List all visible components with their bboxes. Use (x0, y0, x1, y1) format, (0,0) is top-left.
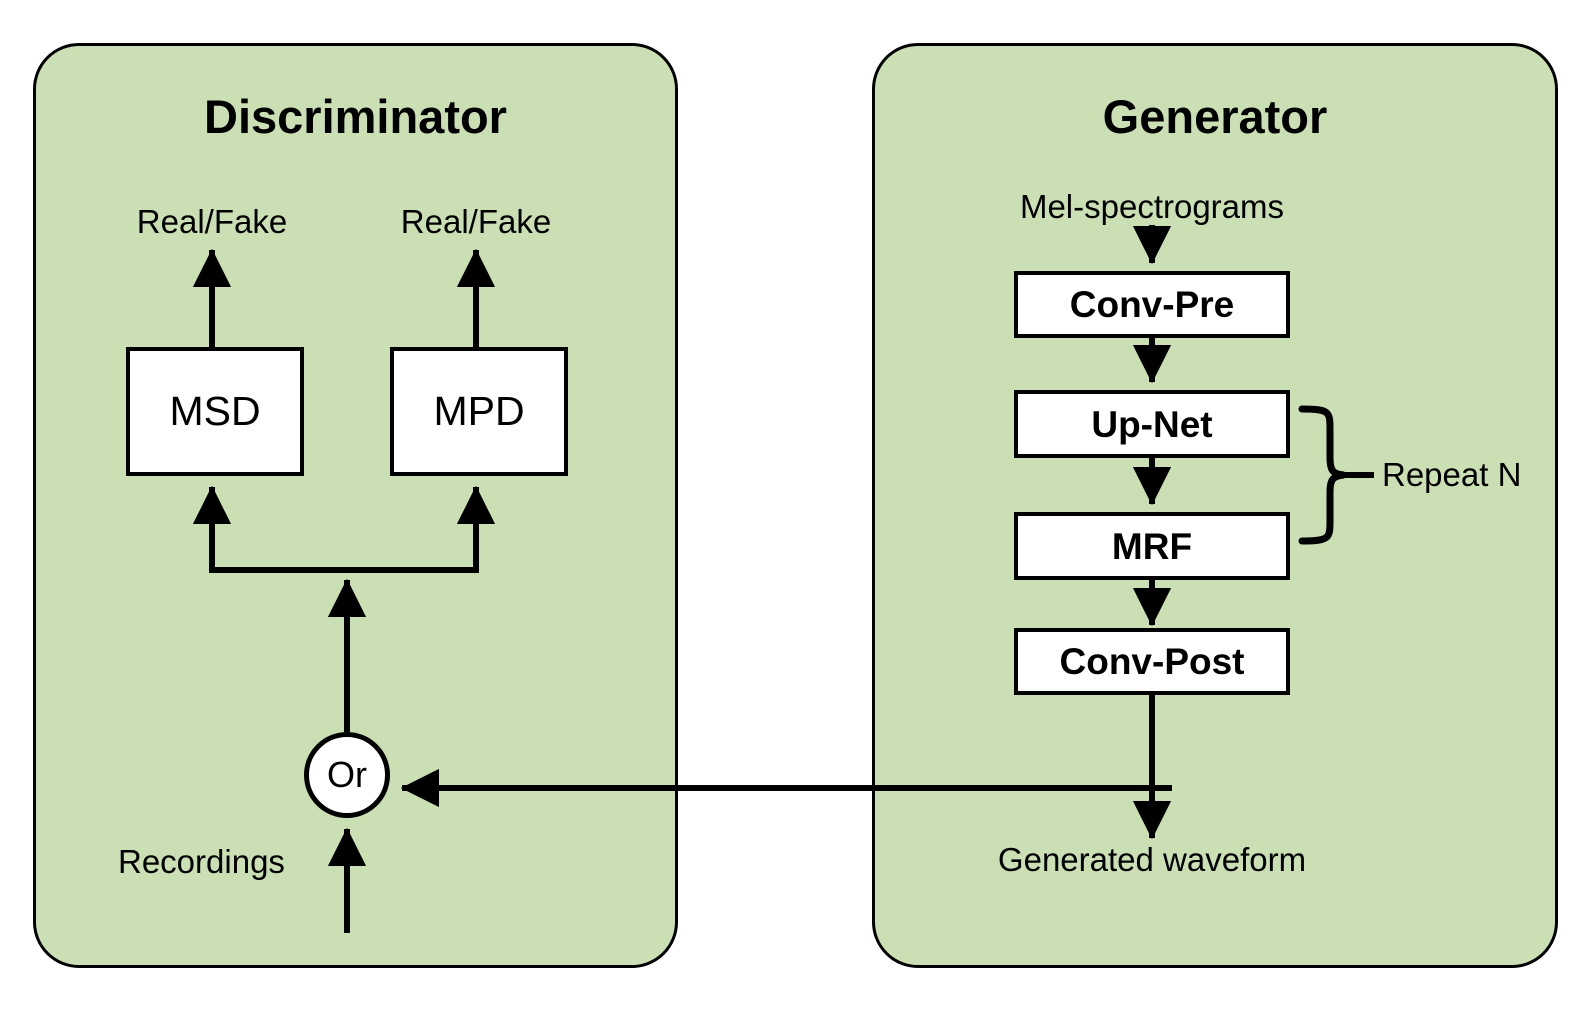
block-msd[interactable]: MSD (126, 347, 304, 476)
block-up-net[interactable]: Up-Net (1014, 390, 1290, 458)
repeat-n-label: Repeat N (1382, 458, 1582, 491)
recordings-input-label: Recordings (118, 845, 330, 878)
diagram-canvas: Discriminator Real/Fake Real/Fake MSD MP… (0, 0, 1594, 1018)
block-mpd[interactable]: MPD (390, 347, 568, 476)
block-conv-post[interactable]: Conv-Post (1014, 628, 1290, 695)
block-mrf[interactable]: MRF (1014, 512, 1290, 580)
generator-panel (872, 43, 1558, 968)
discriminator-panel (33, 43, 678, 968)
or-merge-node[interactable]: Or (304, 732, 390, 818)
msd-output-label: Real/Fake (112, 205, 312, 238)
mel-spectrograms-input-label: Mel-spectrograms (952, 190, 1352, 223)
mpd-output-label: Real/Fake (376, 205, 576, 238)
discriminator-title: Discriminator (33, 93, 678, 140)
block-conv-pre[interactable]: Conv-Pre (1014, 271, 1290, 338)
generated-waveform-output-label: Generated waveform (952, 843, 1352, 876)
generator-title: Generator (872, 93, 1558, 140)
